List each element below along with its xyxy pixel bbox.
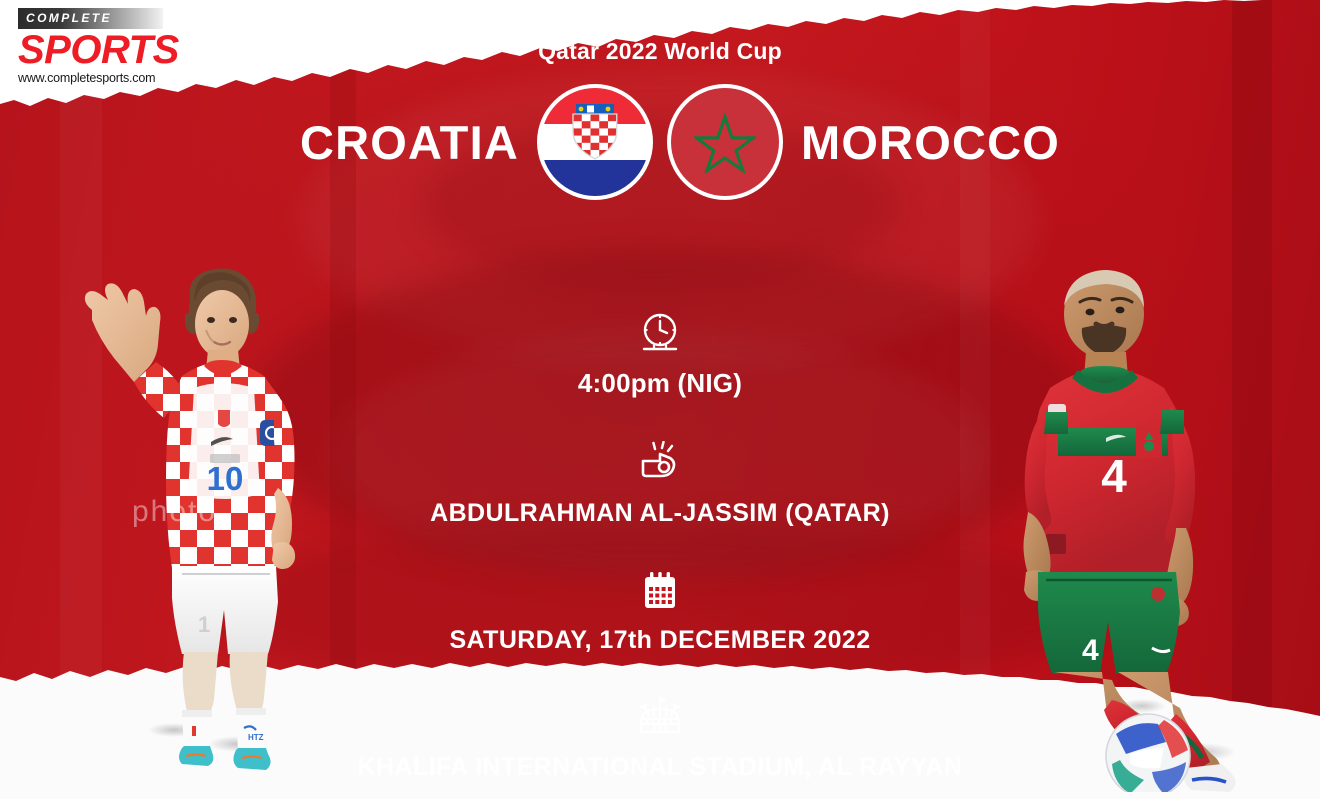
detail-row-venue: KHALIFA INTERNATIONAL STADIUM, AL RAYYAN (358, 695, 963, 782)
away-team-name: MOROCCO (801, 115, 1036, 170)
logo-website-url: www.completesports.com (18, 71, 178, 86)
detail-row-time: 4:00pm (NIG) (578, 312, 742, 399)
detail-referee-label: ABDULRAHMAN AL-JASSIM (QATAR) (430, 499, 890, 528)
detail-row-date: SATURDAY, 17th DECEMBER 2022 (449, 570, 870, 655)
detail-date-label: SATURDAY, 17th DECEMBER 2022 (449, 626, 870, 655)
clock-icon (639, 312, 681, 361)
logo-word-complete: COMPLETE (18, 8, 163, 29)
morocco-flag-icon (671, 88, 779, 196)
stadium-icon (634, 695, 686, 744)
morocco-pentagram-icon (694, 111, 756, 173)
brand-logo[interactable]: COMPLETE SPORTS www.completesports.com (18, 8, 178, 86)
logo-word-sports: SPORTS (18, 30, 178, 70)
match-preview-poster: COMPLETE SPORTS www.completesports.com Q… (0, 0, 1320, 799)
croatia-coat-of-arms-icon (570, 104, 620, 166)
competition-title: Qatar 2022 World Cup (0, 38, 1320, 65)
home-team-name: CROATIA (284, 115, 519, 170)
detail-time-label: 4:00pm (NIG) (578, 368, 742, 399)
matchup-row: CROATIA (0, 88, 1320, 196)
detail-row-referee: ABDULRAHMAN AL-JASSIM (QATAR) (430, 441, 890, 528)
match-details-list: 4:00pm (NIG) ABDULRAHMAN AL-JASSIM (QATA… (0, 312, 1320, 782)
croatia-flag-icon (541, 88, 649, 196)
whistle-icon (636, 441, 684, 490)
detail-venue-label: KHALIFA INTERNATIONAL STADIUM, AL RAYYAN (358, 753, 963, 782)
calendar-icon (639, 570, 681, 617)
